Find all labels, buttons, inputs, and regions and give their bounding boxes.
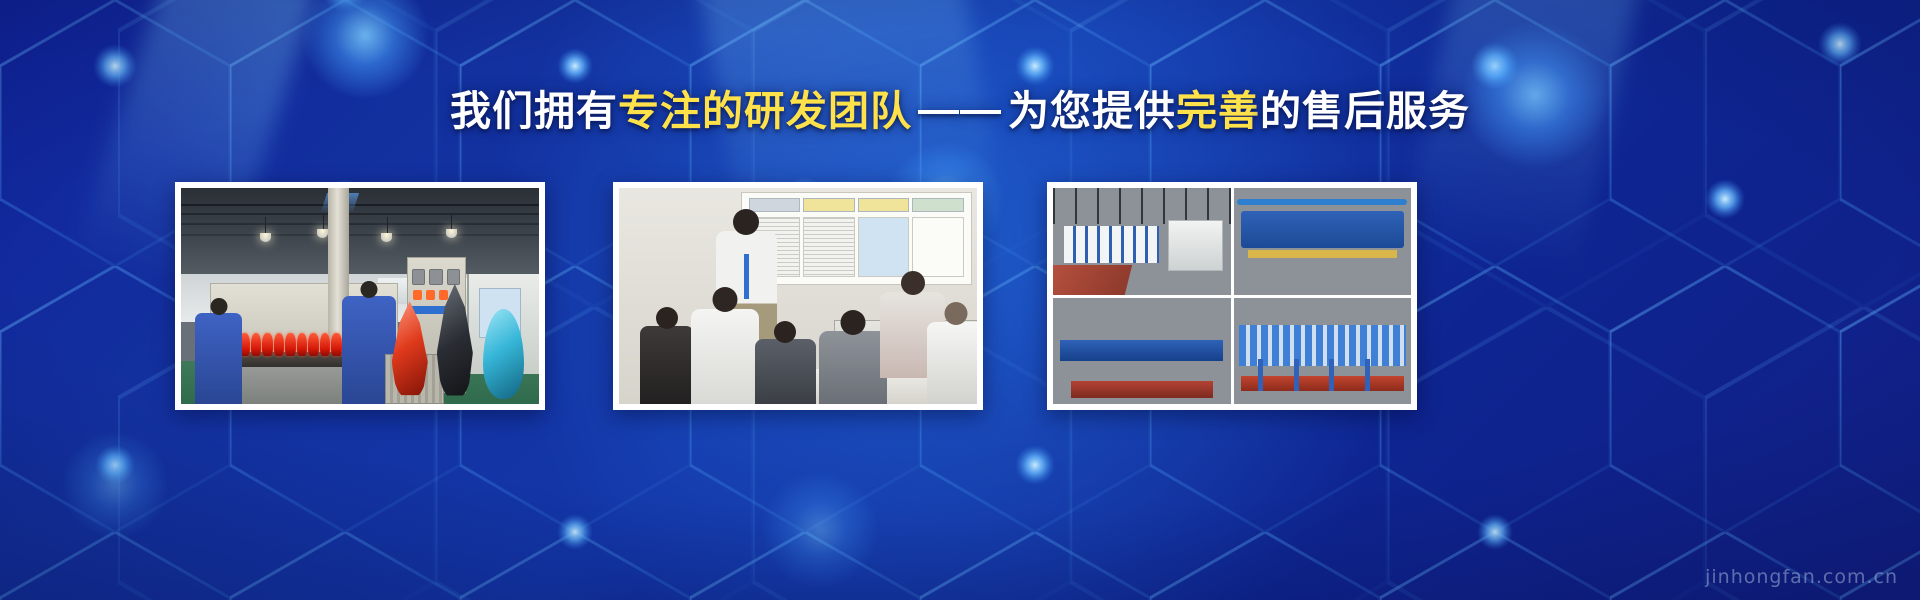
support-post: [1329, 359, 1334, 391]
conveyor-bed: [1241, 376, 1404, 391]
support-post: [1258, 359, 1263, 391]
support-post: [1365, 359, 1370, 391]
lamp-icon: [317, 229, 328, 238]
hanger-rack: [1239, 325, 1406, 365]
photo-meeting-room: [619, 188, 977, 404]
glow-node-e: [760, 470, 880, 590]
collage-cell-workshop: [1053, 188, 1231, 295]
pipe: [1237, 199, 1407, 205]
floor-stripe: [1053, 265, 1132, 295]
person-seated-3: [755, 339, 816, 404]
board-top-row: [749, 198, 964, 213]
collage-grid: [1053, 188, 1411, 404]
support-post: [1294, 359, 1299, 391]
panel-meeting-room[interactable]: [613, 182, 983, 410]
page-title: 我们拥有专注的研发团队——为您提供完善的售后服务: [0, 83, 1920, 139]
headline-segment-4: 完善: [1176, 88, 1260, 134]
glass-vase-group: [389, 279, 539, 404]
headline-segment-3: 为您提供: [1008, 88, 1176, 134]
headline-segment-2: 专注的研发团队: [618, 88, 912, 134]
vase-red: [392, 301, 428, 399]
roof-trusses: [1053, 188, 1231, 224]
ceiling: [181, 188, 539, 274]
photo-equipment-collage: [1053, 188, 1411, 404]
headline-segment-5: 的售后服务: [1260, 88, 1470, 134]
panel-production-line[interactable]: [175, 182, 545, 410]
worker-left: [195, 313, 242, 404]
collage-cell-coating-line: [1234, 298, 1412, 405]
person-seated-4: [819, 331, 887, 404]
watermark: jinhongfan.com.cn: [1705, 566, 1898, 588]
person-seated-1: [640, 326, 694, 404]
vase-blue: [483, 309, 524, 399]
photo-production-line: [181, 188, 539, 404]
lamp-icon: [446, 229, 457, 238]
person-seated-6: [927, 322, 977, 404]
collage-cell-blue-piping: [1234, 188, 1412, 295]
glow-node-d: [60, 430, 170, 540]
board-document-row: [749, 217, 964, 277]
person-seated-2: [691, 309, 759, 404]
vase-black: [437, 284, 473, 399]
panel-equipment-collage[interactable]: [1047, 182, 1417, 410]
headline-dash: ——: [912, 81, 1008, 137]
headline-segment-1: 我们拥有: [450, 88, 618, 134]
promo-banner: 我们拥有专注的研发团队——为您提供完善的售后服务: [0, 0, 1920, 600]
collage-cell-conveyor: [1053, 298, 1231, 405]
photo-panel-group: [0, 182, 1920, 410]
